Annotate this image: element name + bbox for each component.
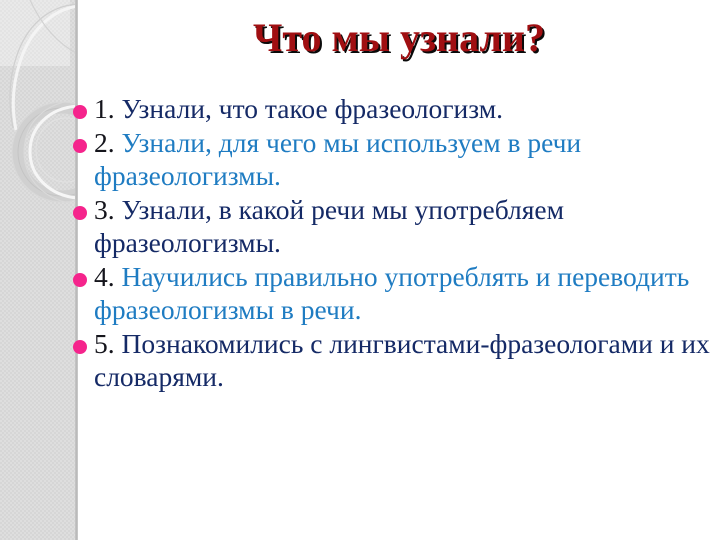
bullet-dot-icon — [73, 139, 87, 153]
list-item-text: Научились правильно употреблять и перево… — [94, 261, 689, 324]
list-item-text: Узнали, для чего мы используем в речи фр… — [94, 127, 581, 190]
list-item-number: 3. — [94, 194, 115, 225]
list-item-number: 1. — [94, 93, 115, 124]
sidebar-decoration — [0, 0, 78, 540]
bullet-dot-icon — [73, 206, 87, 220]
list-item: 4. Научились правильно употреблять и пер… — [73, 261, 718, 326]
list-item: 5. Познакомились с лингвистами-фразеолог… — [73, 328, 718, 393]
bullet-dot-icon — [73, 340, 87, 354]
list-item-text: Познакомились с лингвистами-фразеологами… — [94, 328, 710, 391]
list-item: 3. Узнали, в какой речи мы употребляем ф… — [73, 194, 718, 259]
page-title: Что мы узнали? — [78, 16, 720, 60]
sidebar-rings-graphic — [0, 0, 78, 540]
list-item-number: 5. — [94, 328, 115, 359]
list-item: 2. Узнали, для чего мы используем в речи… — [73, 127, 718, 192]
list-item-number: 4. — [94, 261, 115, 292]
bullet-list: 1. Узнали, что такое фразеологизм. 2. Уз… — [73, 93, 718, 395]
bullet-dot-icon — [73, 273, 87, 287]
bullet-dot-icon — [73, 105, 87, 119]
list-item-text: Узнали, в какой речи мы употребляем фраз… — [94, 194, 564, 257]
list-item-number: 2. — [94, 127, 115, 158]
list-item-text: Узнали, что такое фразеологизм. — [115, 93, 503, 124]
presentation-slide: Что мы узнали? 1. Узнали, что такое фраз… — [0, 0, 720, 540]
list-item: 1. Узнали, что такое фразеологизм. — [73, 93, 718, 125]
